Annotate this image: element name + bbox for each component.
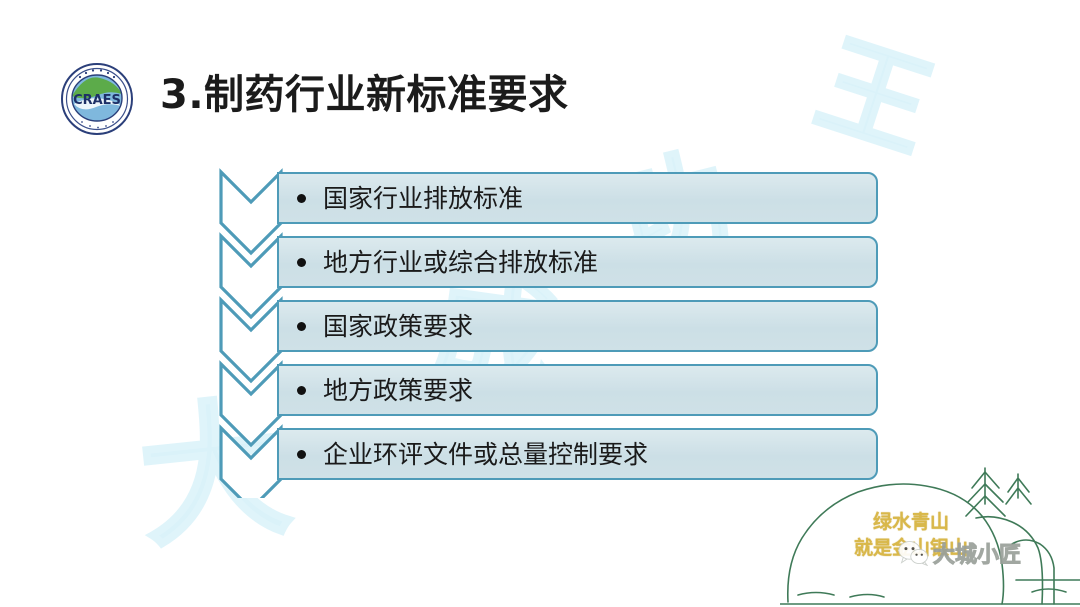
list-item[interactable]: 企业环评文件或总量控制要求 <box>277 428 878 480</box>
slide-canvas: 王 功 成 大 CRAES <box>0 0 1080 607</box>
list-item-label: 地方行业或综合排放标准 <box>323 250 598 275</box>
chevron-1 <box>221 172 281 253</box>
list-item-label: 企业环评文件或总量控制要求 <box>323 442 648 467</box>
svg-text:CRAES: CRAES <box>73 93 121 108</box>
wechat-account-name: 大城小匠 <box>933 537 1021 569</box>
craes-logo-icon: CRAES <box>60 62 134 136</box>
bullet-icon <box>297 386 306 395</box>
slide-header: CRAES 3.制药行业新标准要求 <box>0 0 1080 140</box>
list-item[interactable]: 国家政策要求 <box>277 300 878 352</box>
list-item-label: 国家政策要求 <box>323 314 473 339</box>
bullet-icon <box>297 194 306 203</box>
wechat-icon <box>898 540 928 566</box>
list-item[interactable]: 地方行业或综合排放标准 <box>277 236 878 288</box>
wechat-watermark: 大城小匠 <box>898 537 1021 569</box>
rock-slogan-line-1: 绿水青山 <box>816 510 1006 536</box>
page-title: 3.制药行业新标准要求 <box>160 62 569 120</box>
list-item-label: 地方政策要求 <box>323 378 473 403</box>
bullet-icon <box>297 258 306 267</box>
list-item[interactable]: 地方政策要求 <box>277 364 878 416</box>
list-item-label: 国家行业排放标准 <box>323 186 523 211</box>
requirements-list: 国家行业排放标准 地方行业或综合排放标准 国家政策要求 地方政策要求 企业环评文… <box>277 172 878 480</box>
bullet-icon <box>297 450 306 459</box>
bullet-icon <box>297 322 306 331</box>
list-item[interactable]: 国家行业排放标准 <box>277 172 878 224</box>
